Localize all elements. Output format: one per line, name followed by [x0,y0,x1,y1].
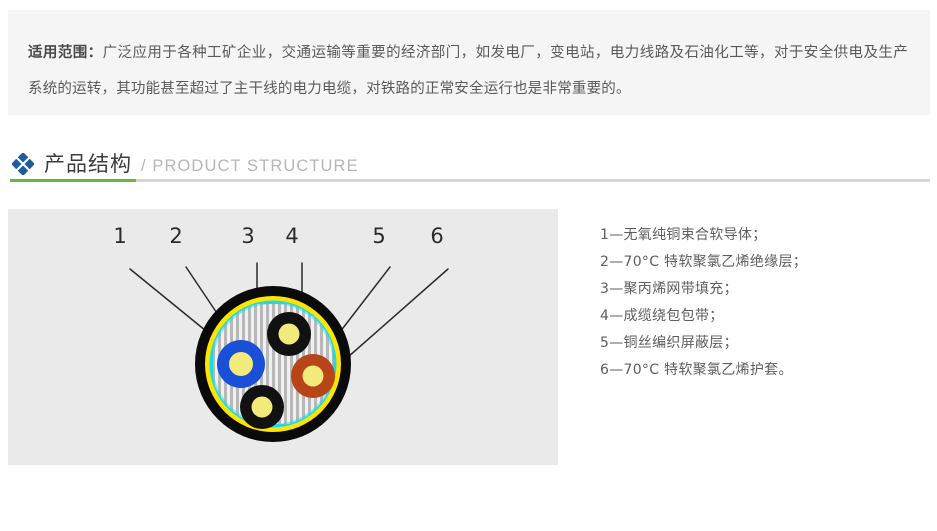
legend-item: 4—成缆绕包包带； [600,303,930,330]
section-divider [10,179,930,182]
section-header: 产品结构 / PRODUCT STRUCTURE [10,148,930,188]
diamond-cluster-icon [12,153,34,175]
section-title-en: / PRODUCT STRUCTURE [141,157,359,176]
structure-legend-list: 1—无氧纯铜束合软导体； 2—70°C 特软聚氯乙烯绝缘层； 3—聚丙烯网带填充… [600,222,930,384]
callout-number-5: 5 [372,224,385,248]
conductor-brown [291,354,335,398]
content-area: 1 2 3 4 5 6 1—无氧纯铜束合软导体； 2—70°C 特软聚氯乙烯绝缘… [8,209,930,467]
conductor-black-bottom [240,385,284,429]
callout-number-3: 3 [241,224,254,248]
callout-number-group: 1 2 3 4 5 6 [113,224,443,248]
legend-item: 1—无氧纯铜束合软导体； [600,222,930,249]
section-title-cn: 产品结构 [44,148,132,178]
legend-item: 5—铜丝编织屏蔽层； [600,330,930,357]
callout-number-2: 2 [169,224,182,248]
scope-label: 适用范围： [28,45,103,61]
callout-number-4: 4 [285,224,298,248]
legend-item: 6—70°C 特软聚氯乙烯护套。 [600,357,930,384]
conductor-black-top [267,312,311,356]
scope-paragraph: 适用范围：广泛应用于各种工矿企业，交通运输等重要的经济部门，如发电厂，变电站，电… [28,36,908,107]
callout-number-1: 1 [113,224,126,248]
legend-item: 3—聚丙烯网带填充； [600,276,930,303]
legend-item: 2—70°C 特软聚氯乙烯绝缘层； [600,249,930,276]
conductor-blue [217,340,265,388]
scope-text: 广泛应用于各种工矿企业，交通运输等重要的经济部门，如发电厂，变电站，电力线路及石… [28,45,908,97]
section-header-row: 产品结构 / PRODUCT STRUCTURE [10,148,930,180]
callout-number-6: 6 [430,224,443,248]
cable-structure-diagram: 1 2 3 4 5 6 [8,209,558,465]
section-divider-accent [10,179,136,182]
scope-banner: 适用范围：广泛应用于各种工矿企业，交通运输等重要的经济部门，如发电厂，变电站，电… [8,10,930,115]
